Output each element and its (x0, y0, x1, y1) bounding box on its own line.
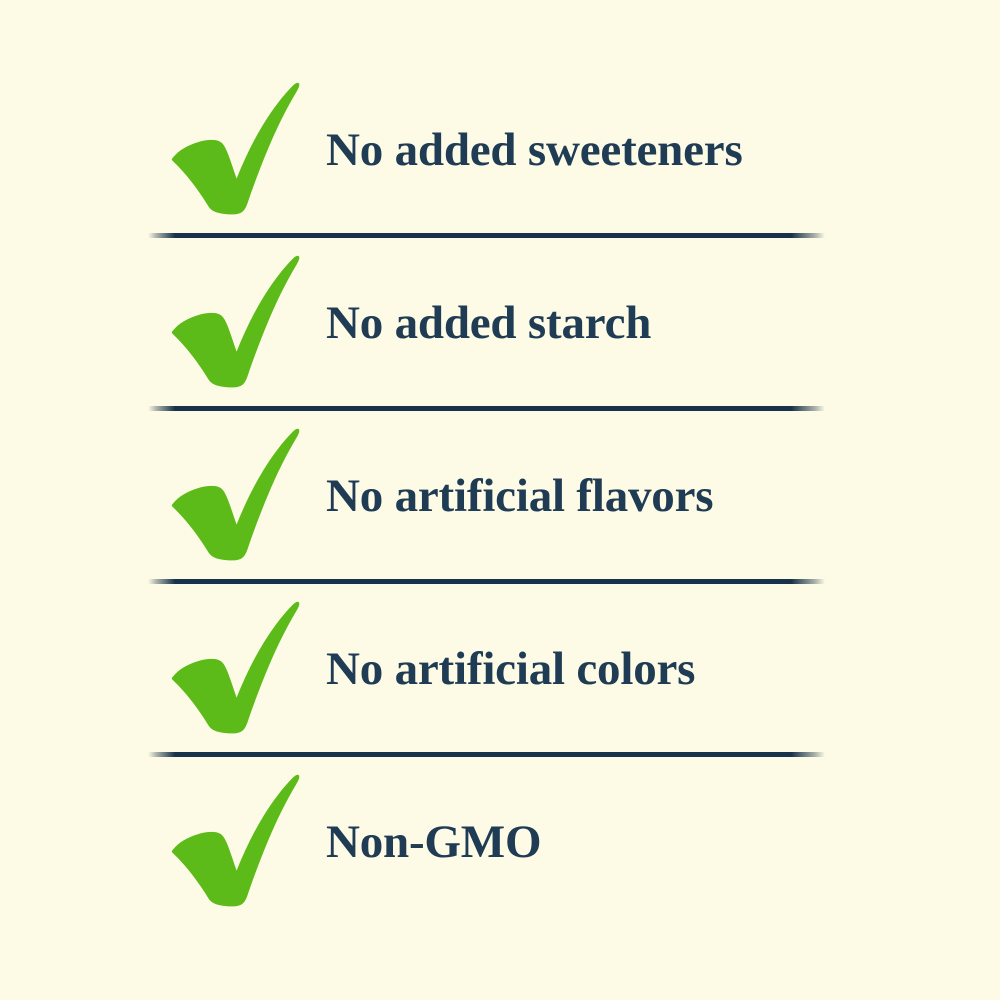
benefit-row: No artificial flavors (0, 408, 1000, 581)
benefit-label: No artificial flavors (326, 472, 713, 521)
benefit-row: No added sweeteners (0, 62, 1000, 235)
green-checkmark-icon (168, 425, 300, 565)
benefit-label: Non-GMO (326, 818, 541, 867)
benefit-row: Non-GMO (0, 754, 1000, 927)
green-checkmark-icon (168, 79, 300, 219)
benefit-row: No added starch (0, 235, 1000, 408)
benefit-label: No artificial colors (326, 645, 695, 694)
green-checkmark-icon (168, 771, 300, 911)
benefit-row: No artificial colors (0, 581, 1000, 754)
product-benefits-card: No added sweeteners No added starch No a… (0, 0, 1000, 1000)
benefit-label: No added starch (326, 299, 651, 348)
green-checkmark-icon (168, 252, 300, 392)
benefit-label: No added sweeteners (326, 126, 743, 175)
green-checkmark-icon (168, 598, 300, 738)
